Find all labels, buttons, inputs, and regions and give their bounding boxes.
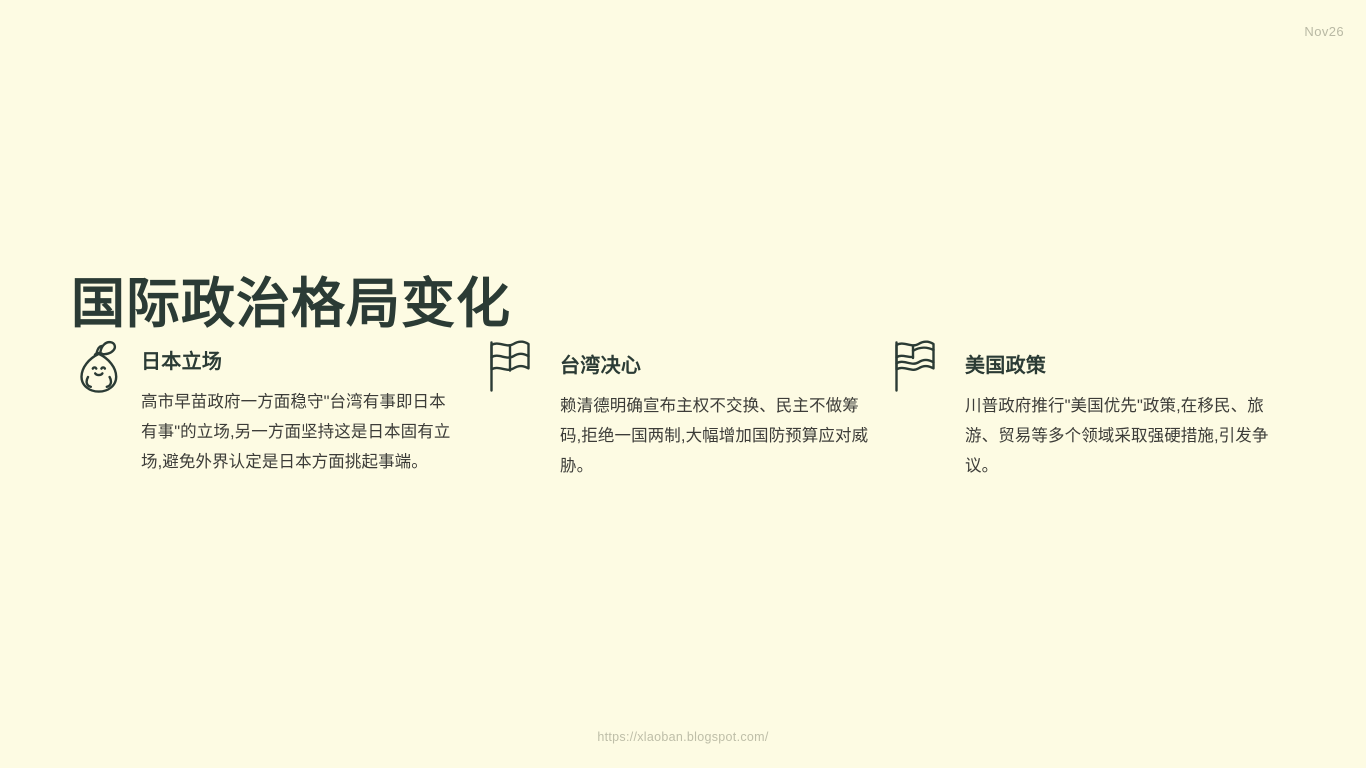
date-stamp: Nov26	[1304, 24, 1344, 39]
column-usa-body: 美国政策 川普政府推行"美国优先"政策,在移民、旅游、贸易等多个领域采取强硬措施…	[965, 336, 1304, 481]
columns-container: 日本立场 高市早苗政府一方面稳守"台湾有事即日本有事"的立场,另一方面坚持这是日…	[71, 336, 1304, 481]
column-japan-text: 高市早苗政府一方面稳守"台湾有事即日本有事"的立场,另一方面坚持这是日本固有立场…	[141, 387, 456, 477]
column-usa-text: 川普政府推行"美国优先"政策,在移民、旅游、贸易等多个领域采取强硬措施,引发争议…	[965, 391, 1280, 481]
column-taiwan-text: 赖清德明确宣布主权不交换、民主不做筹码,拒绝一国两制,大幅增加国防预算应对威胁。	[560, 391, 875, 481]
column-taiwan: 台湾决心 赖清德明确宣布主权不交换、民主不做筹码,拒绝一国两制,大幅增加国防预算…	[482, 336, 887, 481]
column-usa: 美国政策 川普政府推行"美国优先"政策,在移民、旅游、贸易等多个领域采取强硬措施…	[887, 336, 1304, 481]
japan-bundle-icon	[71, 336, 127, 396]
slide-canvas: Nov26 国际政治格局变化	[0, 0, 1366, 768]
footer-url[interactable]: https://xlaoban.blogspot.com/	[0, 730, 1366, 744]
column-usa-heading: 美国政策	[965, 354, 1304, 378]
column-taiwan-heading: 台湾决心	[560, 354, 887, 378]
taiwan-flag-icon	[482, 336, 538, 396]
column-japan-body: 日本立场 高市早苗政府一方面稳守"台湾有事即日本有事"的立场,另一方面坚持这是日…	[141, 336, 482, 477]
column-japan: 日本立场 高市早苗政府一方面稳守"台湾有事即日本有事"的立场,另一方面坚持这是日…	[71, 336, 482, 477]
usa-flag-icon	[887, 336, 943, 396]
column-taiwan-body: 台湾决心 赖清德明确宣布主权不交换、民主不做筹码,拒绝一国两制,大幅增加国防预算…	[560, 336, 887, 481]
column-japan-heading: 日本立场	[141, 350, 482, 374]
page-title: 国际政治格局变化	[71, 274, 511, 334]
